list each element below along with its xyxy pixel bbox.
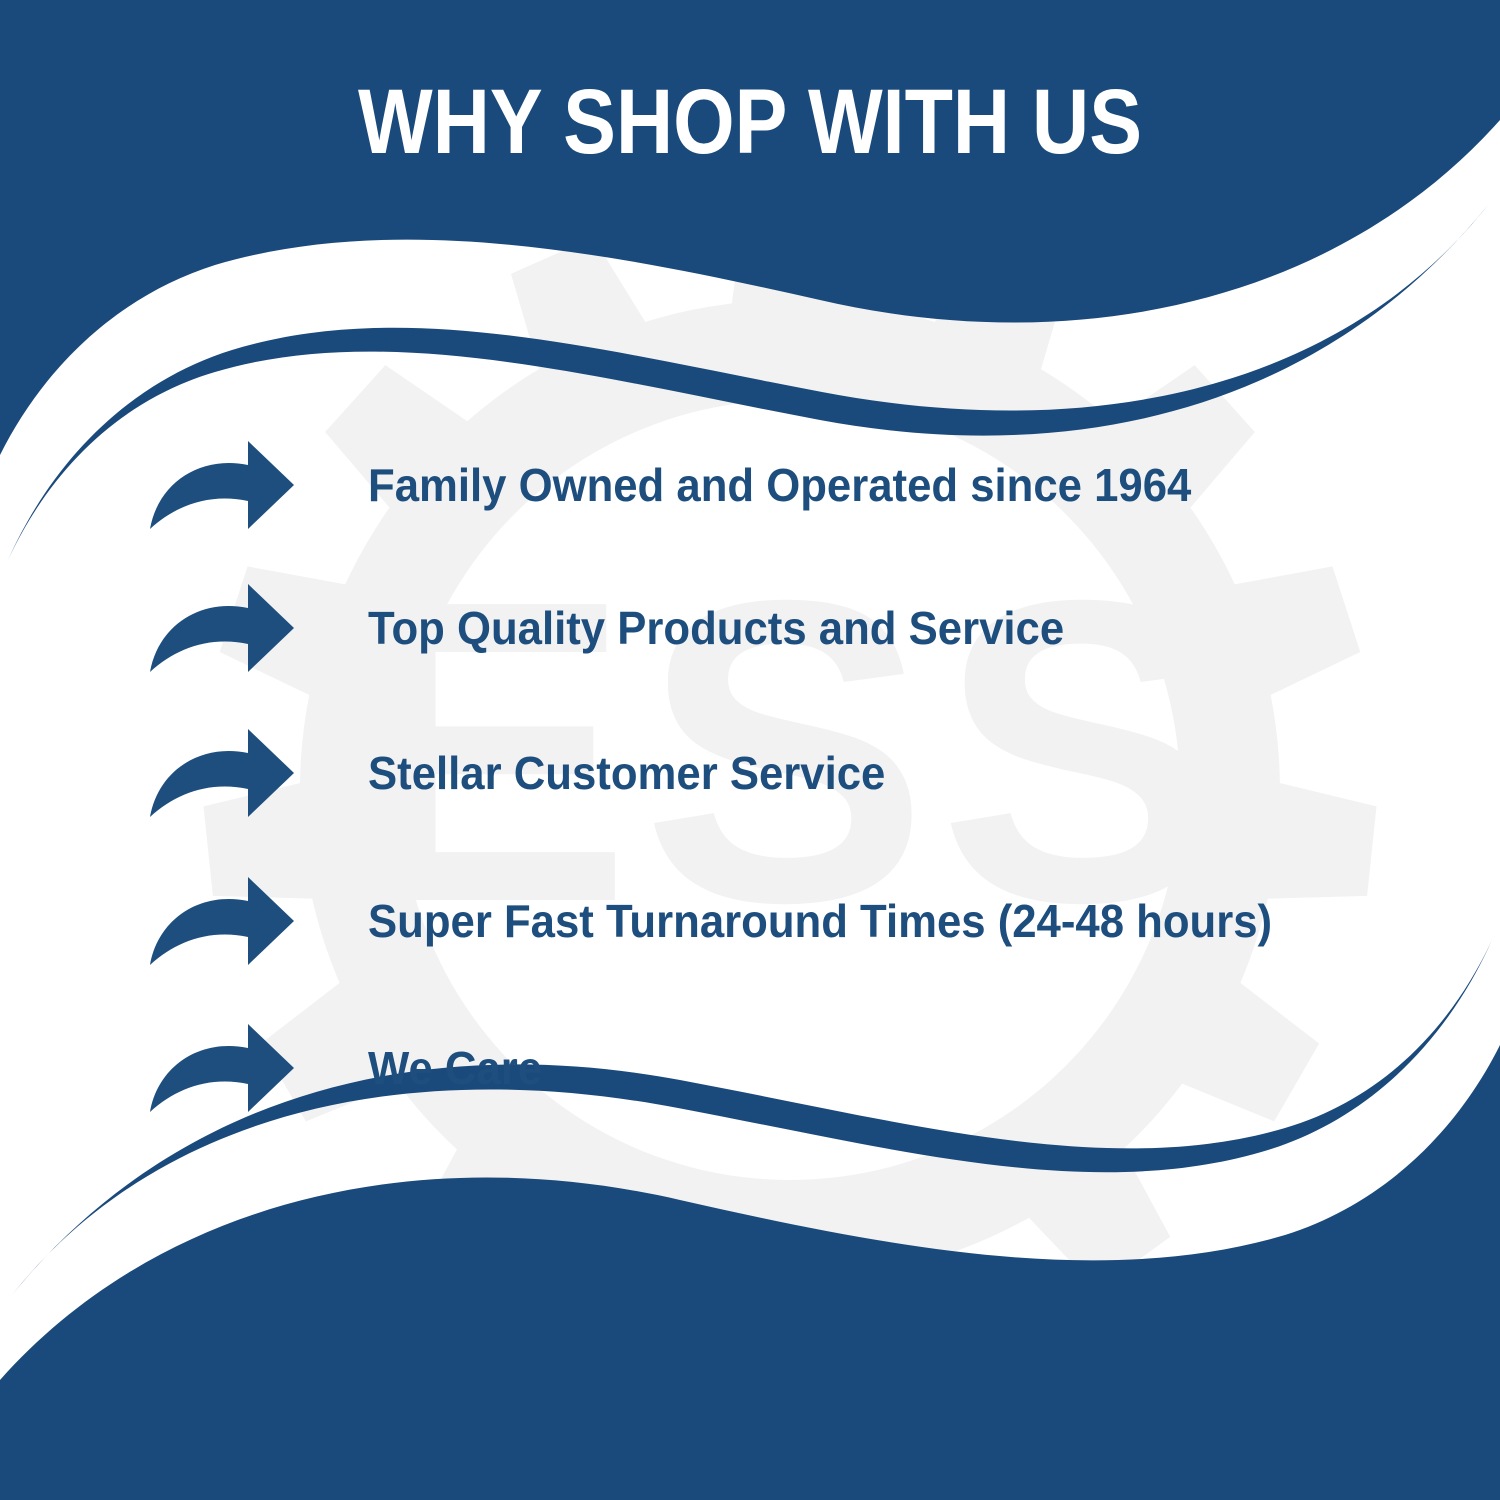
page-title: WHY SHOP WITH US	[105, 76, 1395, 168]
list-item: Stellar Customer Service	[148, 725, 1478, 821]
curved-arrow-right-icon	[148, 875, 296, 967]
list-item-label: Stellar Customer Service	[368, 749, 885, 797]
list-item-label: Top Quality Products and Service	[368, 604, 1064, 652]
benefits-list: Family Owned and Operated since 1964 Top…	[0, 0, 1500, 1500]
list-item-label: We Care	[368, 1044, 542, 1092]
list-item: Top Quality Products and Service	[148, 580, 1478, 676]
list-item-label: Family Owned and Operated since 1964	[368, 461, 1191, 509]
list-item-label: Super Fast Turnaround Times (24-48 hours…	[368, 897, 1272, 945]
curved-arrow-right-icon	[148, 1022, 296, 1114]
curved-arrow-right-icon	[148, 727, 296, 819]
list-item: We Care	[148, 1020, 1478, 1116]
curved-arrow-right-icon	[148, 439, 296, 531]
list-item: Family Owned and Operated since 1964	[148, 437, 1478, 533]
curved-arrow-right-icon	[148, 582, 296, 674]
why-shop-with-us-poster: ESS WHY SHOP WITH US Family Owned and Op…	[0, 0, 1500, 1500]
list-item: Super Fast Turnaround Times (24-48 hours…	[148, 873, 1478, 969]
